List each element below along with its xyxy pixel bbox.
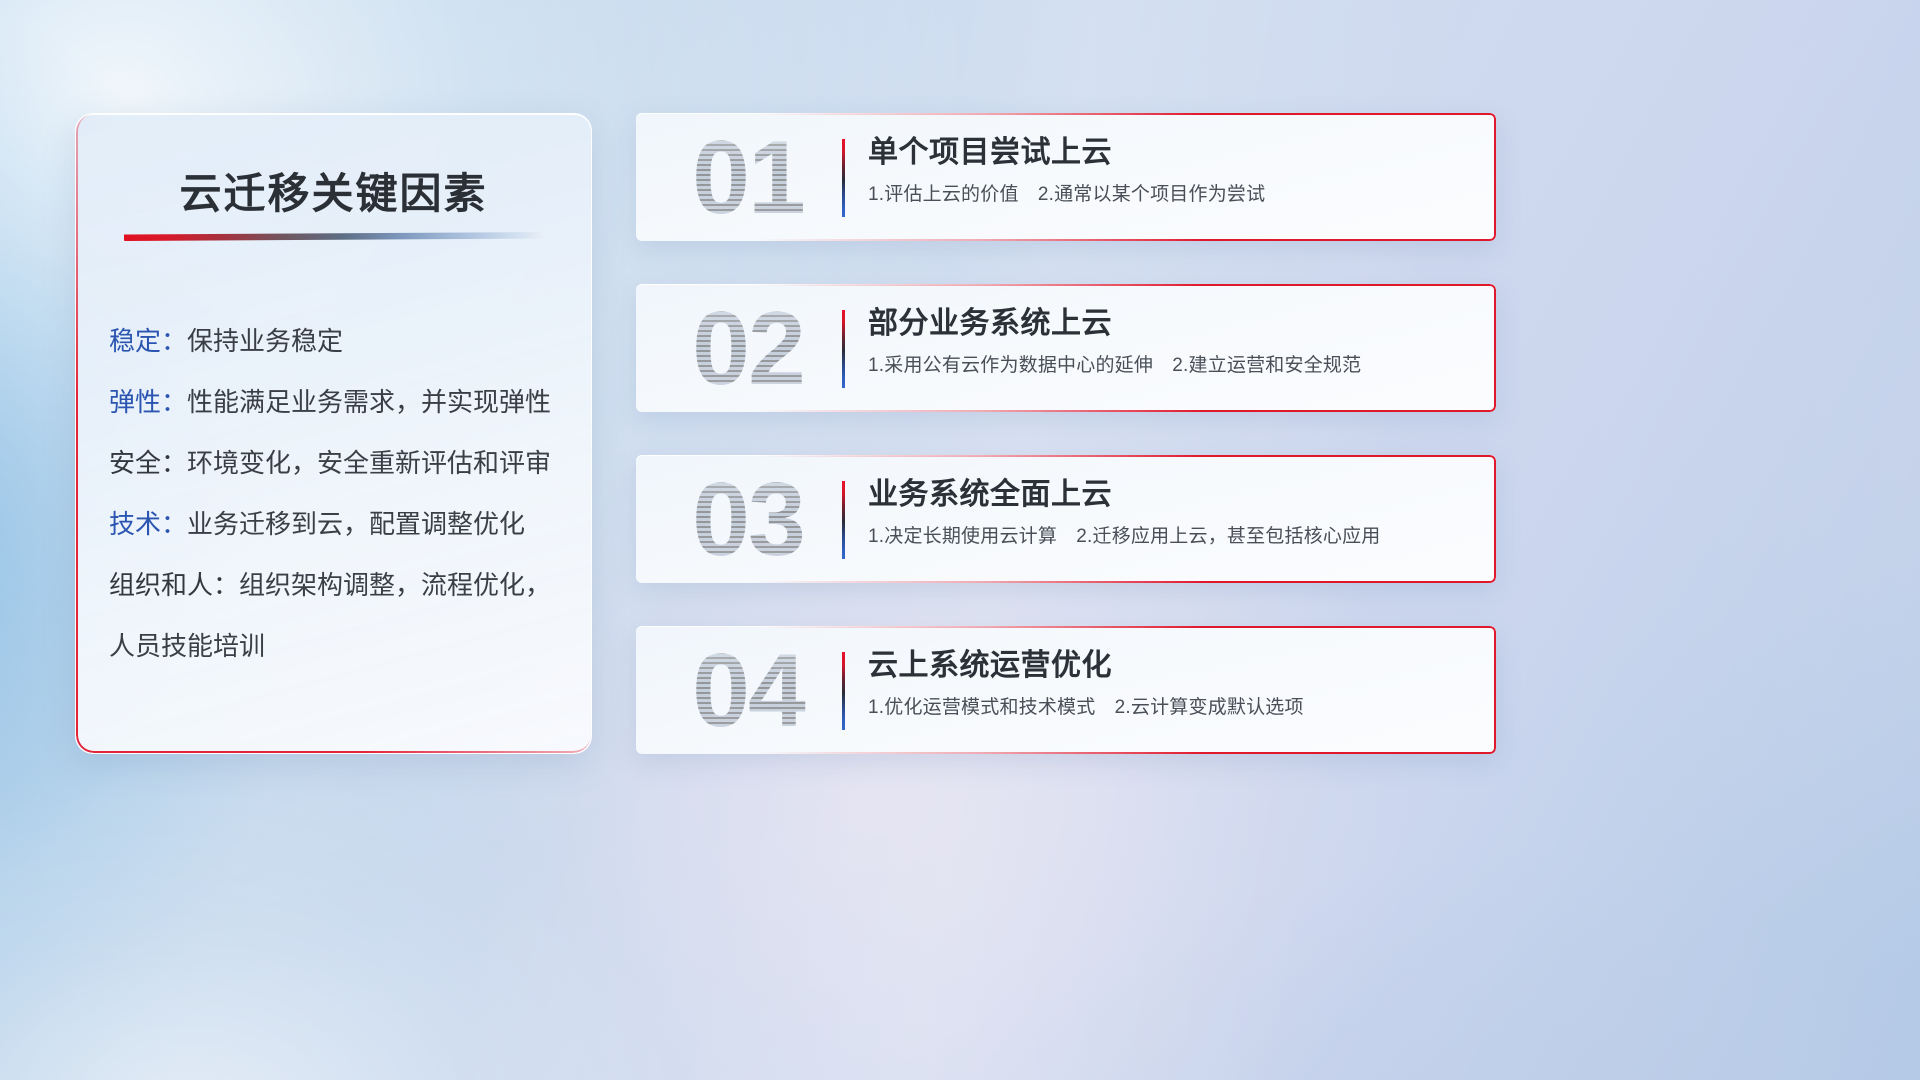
card-title: 单个项目尝试上云 xyxy=(868,131,1472,175)
card-title: 部分业务系统上云 xyxy=(868,302,1472,346)
stage-card[interactable]: 02 部分业务系统上云 1.采用公有云作为数据中心的延伸 2.建立运营和安全规范 xyxy=(636,284,1496,412)
stage-card[interactable]: 01 单个项目尝试上云 1.评估上云的价值 2.通常以某个项目作为尝试 xyxy=(636,113,1496,241)
stage-number: 01 xyxy=(658,119,838,237)
factor-text: 性能满足业务需求，并实现弹性 xyxy=(187,387,551,417)
factor-text: 环境变化，安全重新评估和评审 xyxy=(187,448,551,478)
list-item: 弹性：性能满足业务需求，并实现弹性 xyxy=(109,372,567,433)
stage-number: 04 xyxy=(658,632,838,750)
card-body: 单个项目尝试上云 1.评估上云的价值 2.通常以某个项目作为尝试 xyxy=(868,131,1472,209)
slide-canvas: 云迁移关键因素 稳定：保持业务稳定 弹性：性能满足业务需求，并实现弹性 安全：环… xyxy=(0,0,1920,1080)
list-item: 组织和人：组织架构调整，流程优化，人员技能培训 xyxy=(109,555,567,677)
card-accent-bar xyxy=(842,481,845,559)
stage-number: 02 xyxy=(658,290,838,408)
factor-label: 弹性： xyxy=(109,387,187,417)
card-title: 业务系统全面上云 xyxy=(868,473,1472,517)
stage-card[interactable]: 04 云上系统运营优化 1.优化运营模式和技术模式 2.云计算变成默认选项 xyxy=(636,626,1496,754)
key-factors-list: 稳定：保持业务稳定 弹性：性能满足业务需求，并实现弹性 安全：环境变化，安全重新… xyxy=(109,311,567,677)
list-item: 技术：业务迁移到云，配置调整优化 xyxy=(109,494,567,555)
card-subtitle: 1.采用公有云作为数据中心的延伸 2.建立运营和安全规范 xyxy=(868,352,1472,380)
page-title: 云迁移关键因素 xyxy=(76,160,591,221)
card-subtitle: 1.决定长期使用云计算 2.迁移应用上云，甚至包括核心应用 xyxy=(868,523,1472,551)
list-item: 安全：环境变化，安全重新评估和评审 xyxy=(109,433,567,494)
factor-label: 组织和人： xyxy=(109,570,239,600)
card-subtitle: 1.评估上云的价值 2.通常以某个项目作为尝试 xyxy=(868,181,1472,209)
card-title: 云上系统运营优化 xyxy=(868,644,1472,688)
factor-label: 技术： xyxy=(109,509,187,539)
factor-text: 业务迁移到云，配置调整优化 xyxy=(187,509,525,539)
card-subtitle: 1.优化运营模式和技术模式 2.云计算变成默认选项 xyxy=(868,694,1472,722)
factor-label: 安全： xyxy=(109,448,187,478)
card-accent-bar xyxy=(842,139,845,217)
migration-stage-cards: 01 单个项目尝试上云 1.评估上云的价值 2.通常以某个项目作为尝试 02 部… xyxy=(636,113,1496,797)
stage-card[interactable]: 03 业务系统全面上云 1.决定长期使用云计算 2.迁移应用上云，甚至包括核心应… xyxy=(636,455,1496,583)
card-body: 云上系统运营优化 1.优化运营模式和技术模式 2.云计算变成默认选项 xyxy=(868,644,1472,722)
card-accent-bar xyxy=(842,310,845,388)
factor-label: 稳定： xyxy=(109,326,187,356)
card-body: 部分业务系统上云 1.采用公有云作为数据中心的延伸 2.建立运营和安全规范 xyxy=(868,302,1472,380)
card-accent-bar xyxy=(842,652,845,730)
key-factors-panel: 云迁移关键因素 稳定：保持业务稳定 弹性：性能满足业务需求，并实现弹性 安全：环… xyxy=(75,113,592,754)
factor-text: 保持业务稳定 xyxy=(187,326,343,356)
list-item: 稳定：保持业务稳定 xyxy=(109,311,567,372)
title-underline-gradient xyxy=(124,232,544,241)
stage-number: 03 xyxy=(658,461,838,579)
card-body: 业务系统全面上云 1.决定长期使用云计算 2.迁移应用上云，甚至包括核心应用 xyxy=(868,473,1472,551)
